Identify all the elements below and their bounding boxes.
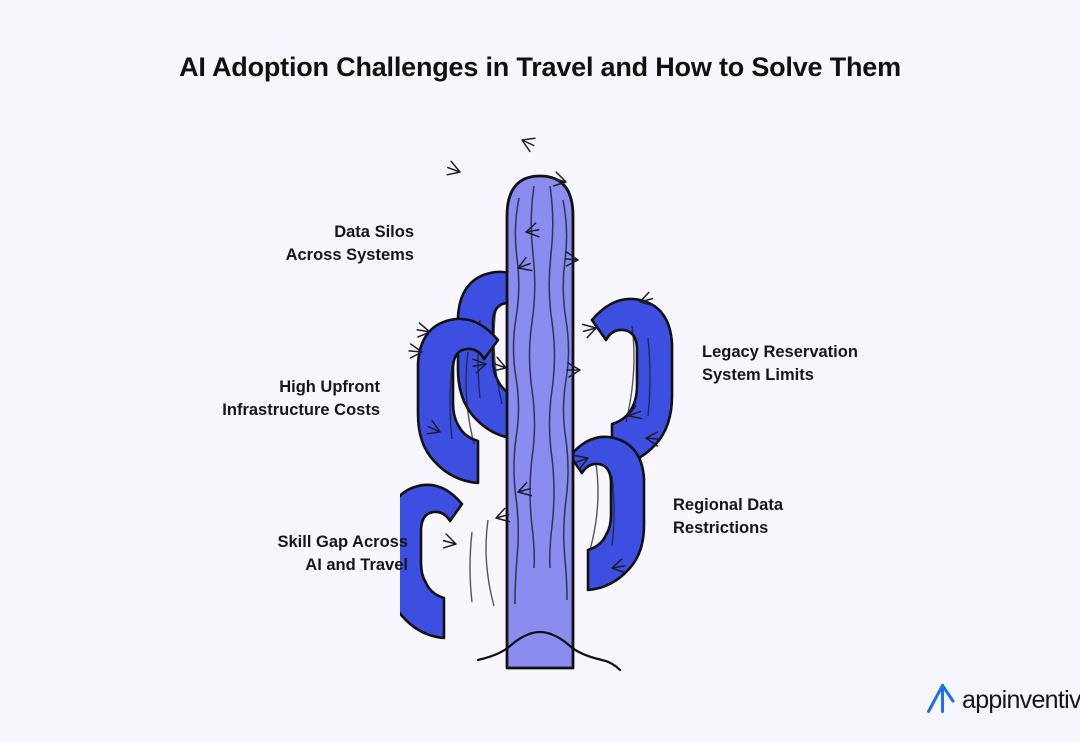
challenge-label-high-upfront: High Upfront Infrastructure Costs bbox=[120, 376, 380, 423]
challenge-label-legacy-reservation: Legacy Reservation System Limits bbox=[702, 341, 982, 388]
cactus-trunk bbox=[507, 176, 573, 668]
challenge-label-skill-gap: Skill Gap Across AI and Travel bbox=[148, 531, 408, 578]
challenge-label-data-silos: Data Silos Across Systems bbox=[154, 221, 414, 268]
cactus-illustration bbox=[400, 120, 720, 685]
page-title: AI Adoption Challenges in Travel and How… bbox=[0, 52, 1080, 83]
challenge-label-regional-data: Regional Data Restrictions bbox=[673, 494, 953, 541]
brand-logo: appinventiv bbox=[925, 682, 1080, 719]
cactus-arm-lower-left bbox=[400, 485, 462, 638]
appinventiv-mark-icon bbox=[925, 682, 959, 719]
brand-name: appinventiv bbox=[962, 686, 1080, 715]
infographic-canvas: AI Adoption Challenges in Travel and How… bbox=[0, 0, 1080, 742]
